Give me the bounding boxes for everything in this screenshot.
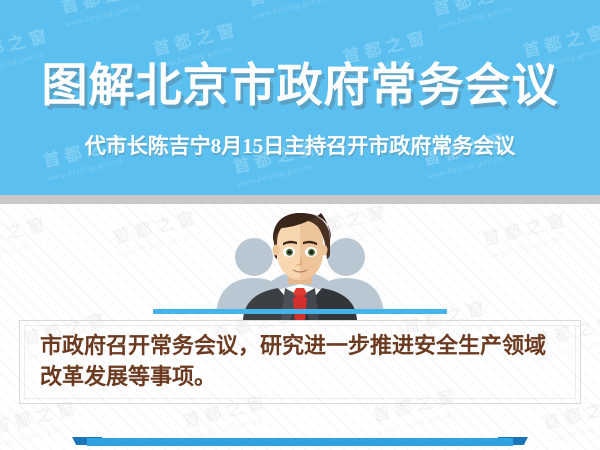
watermark-cn: 首都之窗 <box>245 0 336 10</box>
watermark-cn: 首都之窗 <box>150 15 241 61</box>
watermark-en: www.beijing.gov.cn <box>436 0 524 31</box>
page-title: 图解北京市政府常务会议 <box>0 55 600 117</box>
content-area: 首都之窗 www.beijing.gov.cn 首都之窗 www.beijing… <box>0 204 600 450</box>
page-subtitle: 代市长陈吉宁8月15日主持召开市政府常务会议 <box>0 131 600 161</box>
watermark-cn: 首都之窗 <box>0 209 51 255</box>
watermark: 首都之窗 www.beijing.gov.cn <box>0 209 54 265</box>
podium-bar <box>153 309 447 314</box>
header-banner: 首都之窗 www.beijing.gov.cn 首都之窗 www.beijing… <box>0 0 600 195</box>
watermark-cn: 首都之窗 <box>430 0 521 20</box>
ribbon-bar <box>87 438 513 446</box>
official-speaking-illustration <box>150 208 450 320</box>
header-divider <box>0 195 600 204</box>
watermark-en: www.beijing.gov.cn <box>376 406 464 437</box>
callout-text: 市政府召开常务会议，研究进一步推进安全生产领域改革发展等事项。 <box>40 331 566 393</box>
watermark-cn: 首都之窗 <box>480 205 571 251</box>
watermark-cn: 首都之窗 <box>58 0 149 18</box>
watermark-en: www.beijing.gov.cn <box>236 158 324 189</box>
watermark-en: www.beijing.gov.cn <box>64 0 152 29</box>
section-ribbon <box>0 437 600 447</box>
infographic-page: 首都之窗 www.beijing.gov.cn 首都之窗 www.beijing… <box>0 0 600 450</box>
watermark-en: www.beijing.gov.cn <box>251 0 339 21</box>
watermark: 首都之窗 www.beijing.gov.cn <box>58 0 152 29</box>
watermark: 首都之窗 www.beijing.gov.cn <box>480 205 574 261</box>
watermark-en: www.beijing.gov.cn <box>486 230 574 261</box>
watermark-en: www.beijing.gov.cn <box>0 234 54 265</box>
watermark: 首都之窗 www.beijing.gov.cn <box>430 0 524 31</box>
summary-callout-box: 市政府召开常务会议，研究进一步推进安全生产领域改革发展等事项。 <box>19 320 581 404</box>
watermark: 首都之窗 www.beijing.gov.cn <box>245 0 339 21</box>
